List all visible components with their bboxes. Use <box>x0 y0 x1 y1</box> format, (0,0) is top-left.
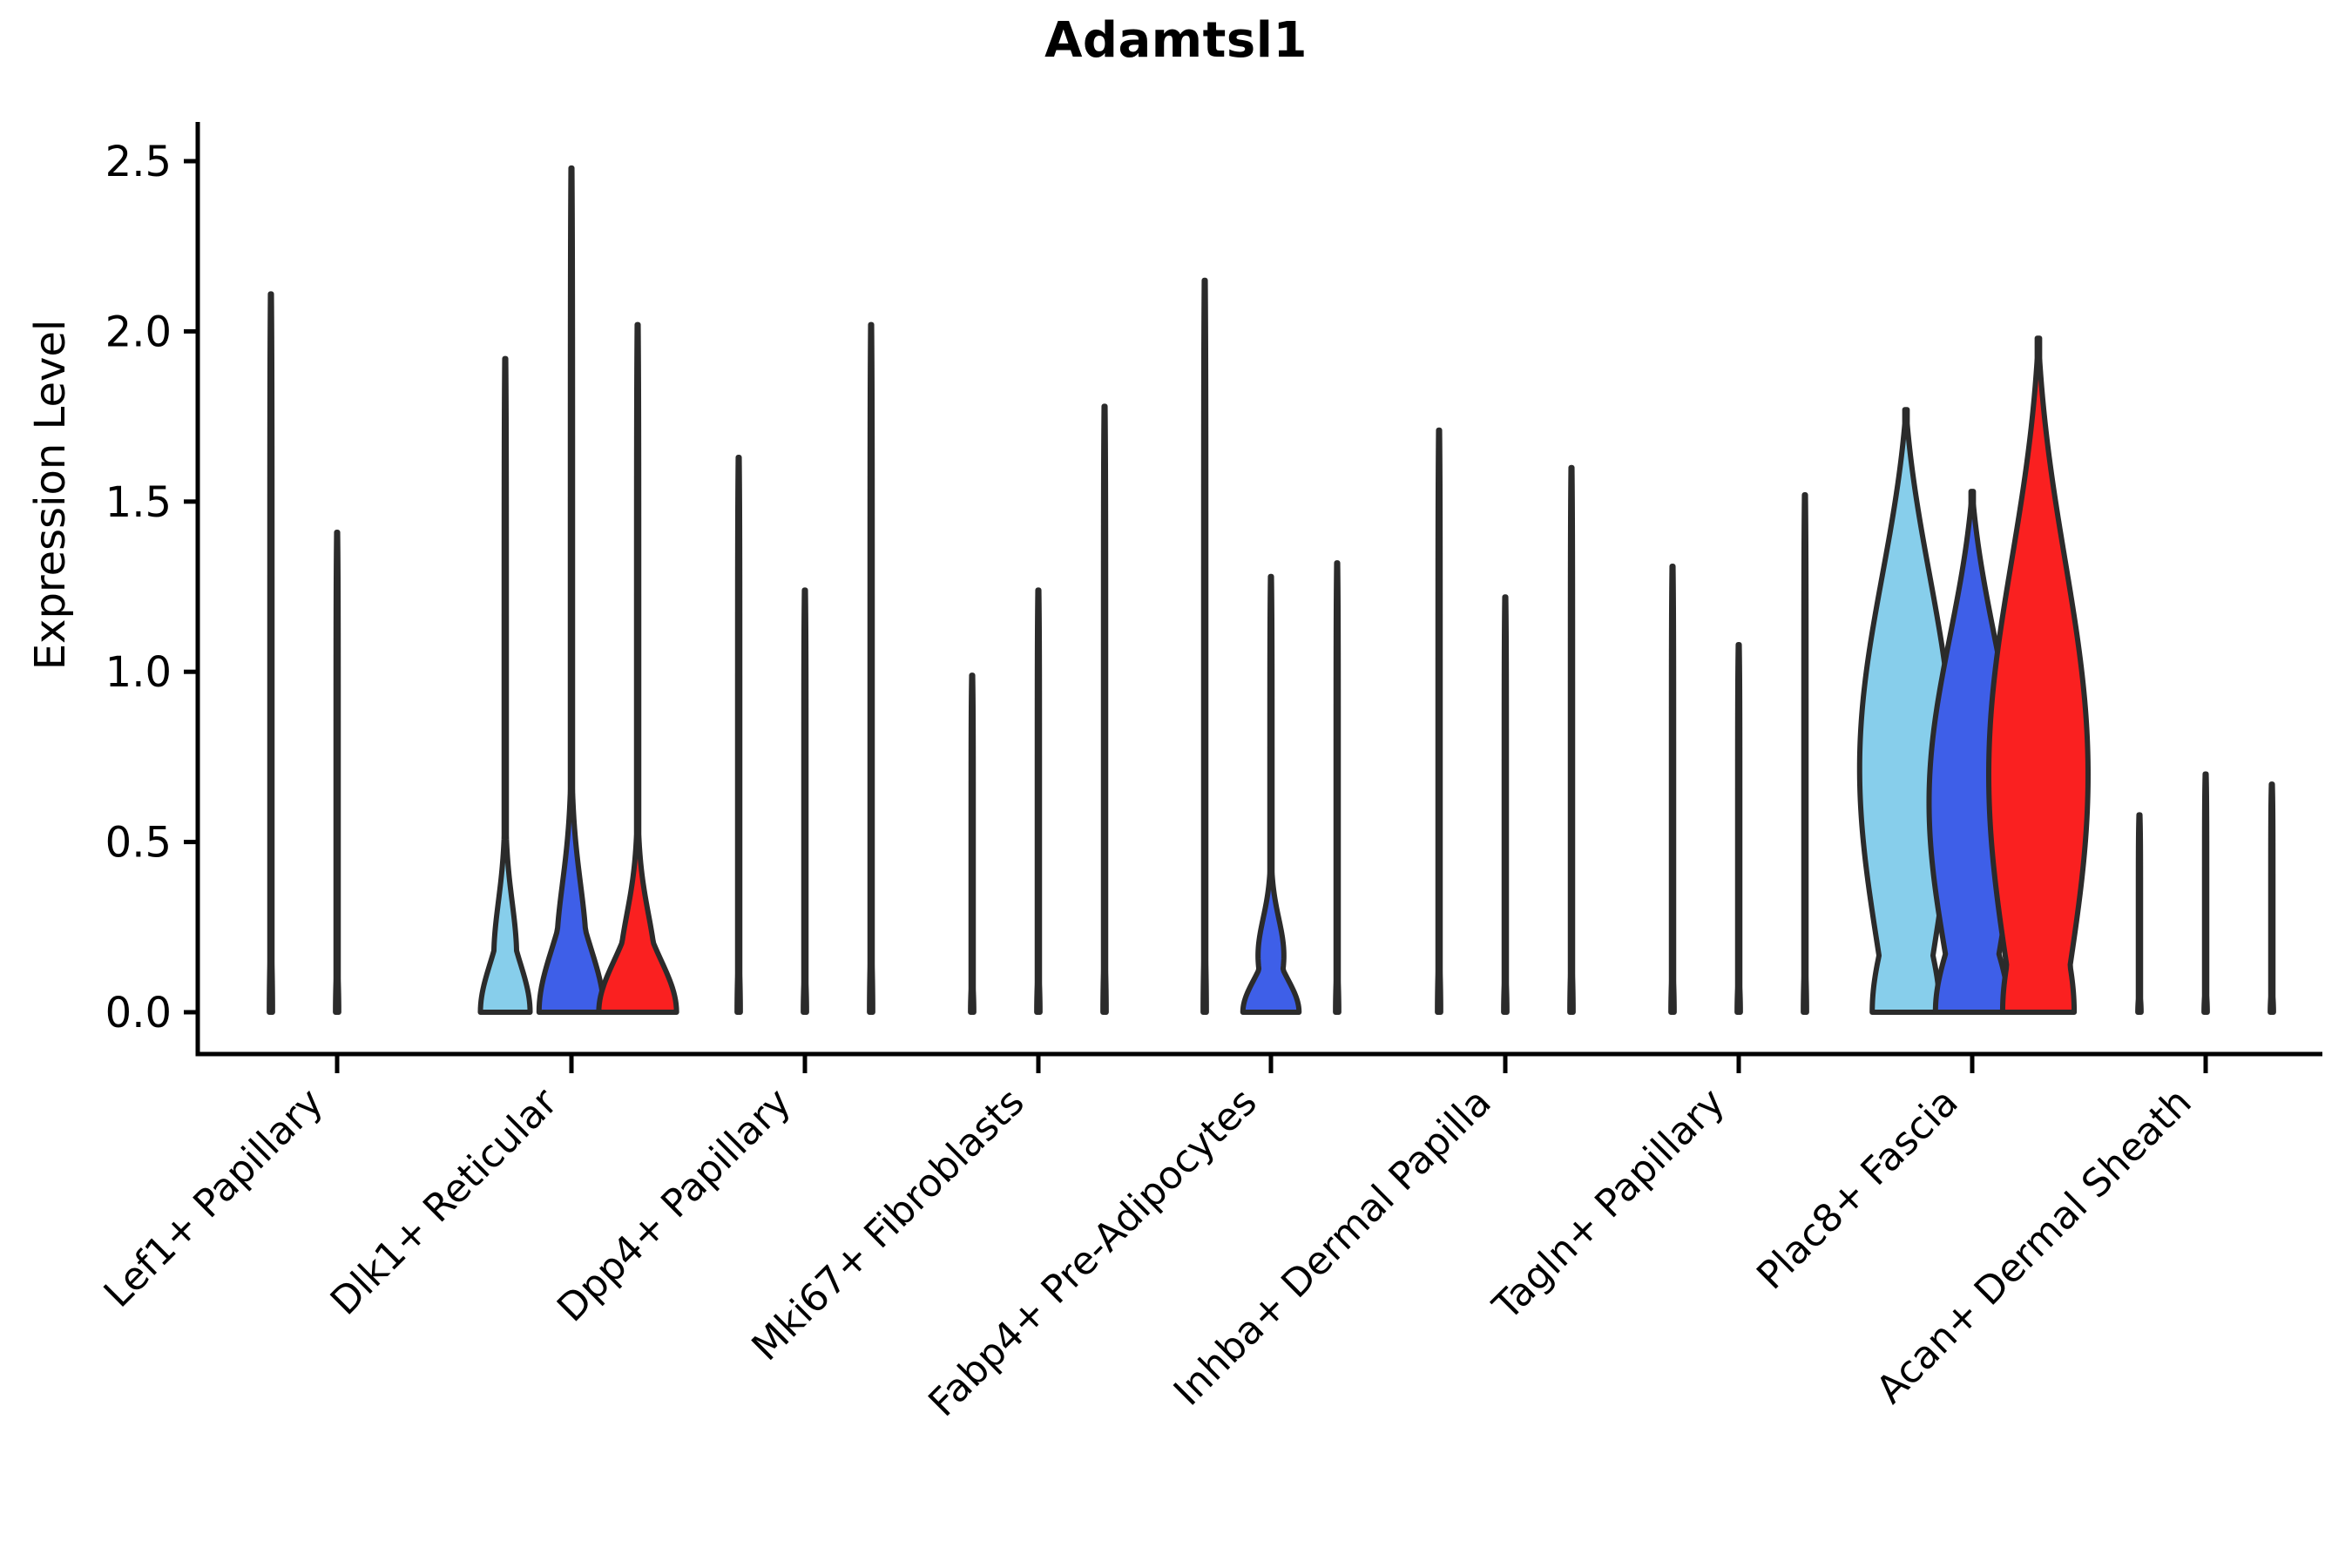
violin-6-2 <box>1504 597 1507 1012</box>
violin-6-1 <box>1437 430 1441 1012</box>
violin-9-1 <box>2138 814 2141 1012</box>
violin-9-3 <box>2270 784 2274 1012</box>
violin-plot-figure: Adamtsl1 Expression Level 0.00.51.01.52.… <box>0 0 2352 1568</box>
violin-2-3 <box>598 325 676 1012</box>
violin-2-1 <box>480 359 530 1012</box>
violin-chart-svg: 0.00.51.01.52.02.5 Lef1+ PapillaryDlk1+ … <box>0 0 2352 1568</box>
violin-4-1 <box>970 675 974 1012</box>
x-tick-label-3: Dpp4+ Papillary <box>549 1080 800 1331</box>
violin-3-1 <box>737 457 740 1012</box>
y-axis-ticks: 0.00.51.01.52.02.5 <box>105 138 198 1037</box>
y-tick-label: 2.0 <box>105 308 172 356</box>
violin-5-2 <box>1243 577 1299 1012</box>
violin-9-2 <box>2204 774 2207 1012</box>
violin-1-2 <box>335 532 339 1012</box>
x-tick-label-8: Plac8+ Fascia <box>1748 1080 1967 1299</box>
y-tick-label: 2.5 <box>105 138 172 186</box>
violin-2-2 <box>539 168 604 1012</box>
violin-7-3 <box>1803 495 1807 1012</box>
x-tick-label-7: Tagln+ Papillary <box>1484 1080 1734 1329</box>
violin-4-3 <box>1103 406 1106 1012</box>
violin-3-3 <box>869 325 873 1012</box>
y-tick-label: 0.0 <box>105 989 172 1037</box>
y-tick-label: 0.5 <box>105 819 172 868</box>
violin-7-2 <box>1737 645 1740 1012</box>
x-tick-label-2: Dlk1+ Reticular <box>322 1079 567 1324</box>
x-tick-label-1: Lef1+ Papillary <box>96 1080 332 1316</box>
y-tick-label: 1.5 <box>105 478 172 527</box>
violin-8-3 <box>1989 338 2088 1012</box>
violin-1-1 <box>269 294 273 1012</box>
violin-6-3 <box>1570 468 1573 1012</box>
violins-layer <box>269 168 2274 1012</box>
violin-5-3 <box>1335 563 1339 1012</box>
violin-4-2 <box>1037 590 1040 1012</box>
y-tick-label: 1.0 <box>105 648 172 697</box>
x-axis-ticks: Lef1+ PapillaryDlk1+ ReticularDpp4+ Papi… <box>96 1054 2206 1425</box>
violin-5-1 <box>1203 280 1206 1012</box>
violin-7-1 <box>1671 566 1674 1012</box>
violin-3-2 <box>803 590 807 1012</box>
